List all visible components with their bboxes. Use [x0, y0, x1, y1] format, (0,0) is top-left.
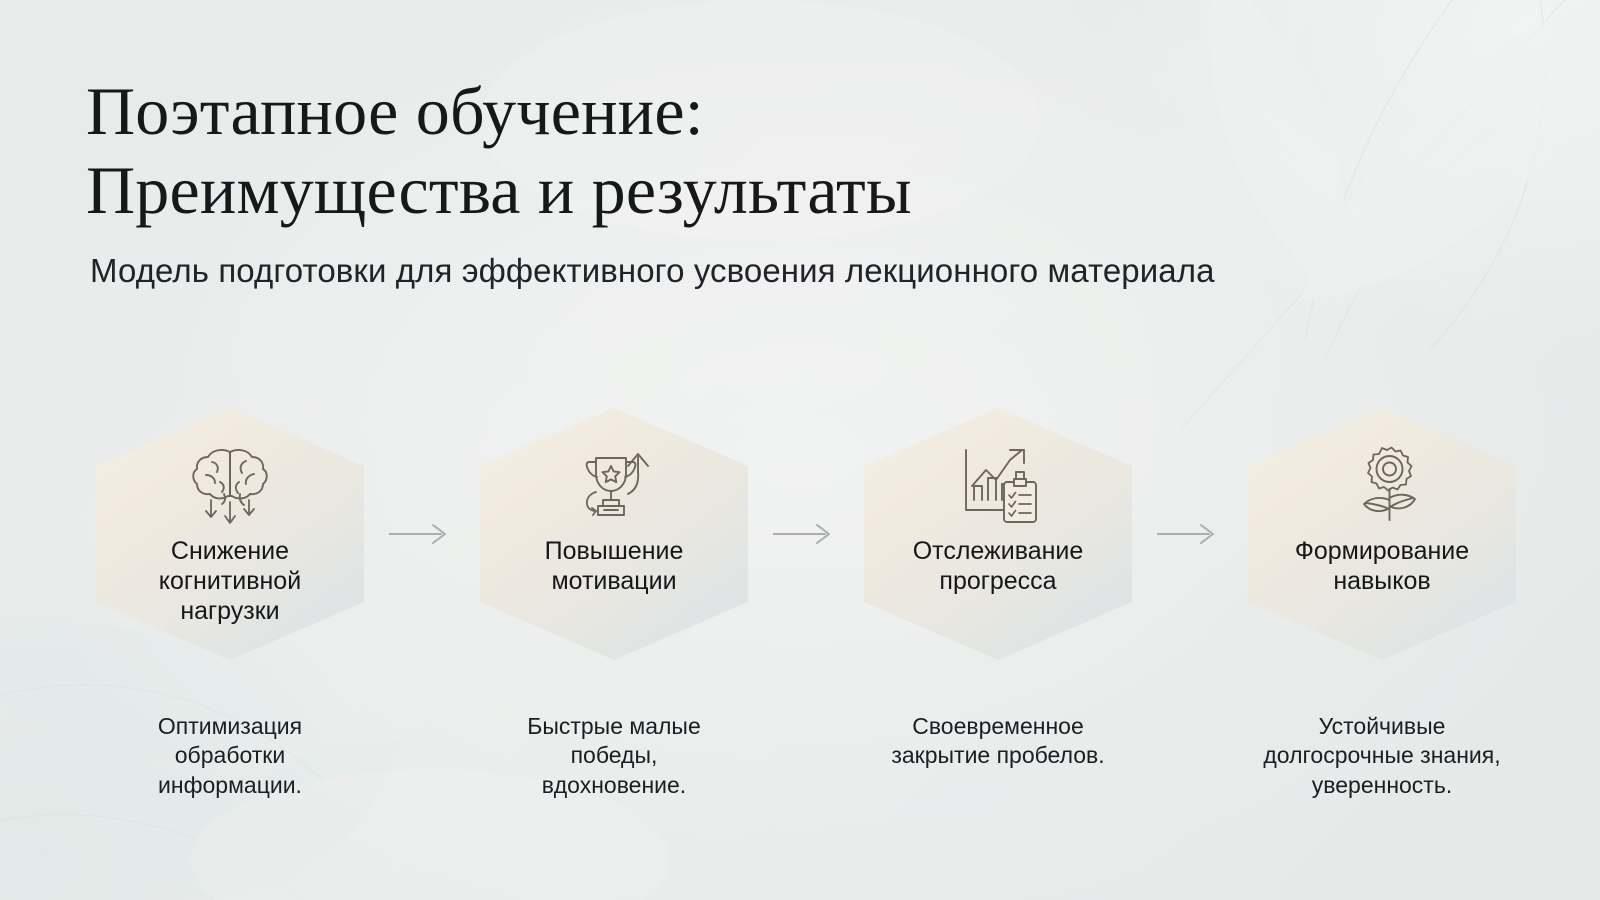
trophy-up-arrow-icon	[568, 442, 660, 528]
step-3[interactable]: Отслеживание прогресса Своевременное зак…	[864, 408, 1132, 771]
step-4-label: Формирование навыков	[1277, 536, 1487, 596]
arrow-right-icon	[1157, 521, 1223, 547]
step-1-caption: Оптимизация обработки информации.	[95, 712, 365, 800]
step-3-hexagon[interactable]: Отслеживание прогресса	[864, 408, 1132, 660]
step-1-label: Снижение когнитивной нагрузки	[125, 536, 335, 626]
step-4-hexagon[interactable]: Формирование навыков	[1248, 408, 1516, 660]
brain-down-arrows-icon	[184, 442, 276, 528]
step-1[interactable]: Снижение когнитивной нагрузки Оптимизаци…	[96, 408, 364, 800]
connector-2	[766, 408, 846, 660]
step-2[interactable]: Повышение мотивации Быстрые малые победы…	[480, 408, 748, 800]
page-subtitle: Модель подготовки для эффективного усвое…	[90, 252, 1506, 290]
step-2-caption: Быстрые малые победы, вдохновение.	[479, 712, 749, 800]
arrow-right-icon	[389, 521, 455, 547]
step-4-caption: Устойчивые долгосрочные знания, уверенно…	[1247, 712, 1517, 800]
connector-1	[382, 408, 462, 660]
chart-clipboard-checklist-icon	[952, 442, 1044, 528]
process-steps: Снижение когнитивной нагрузки Оптимизаци…	[96, 408, 1516, 800]
arrow-right-icon	[773, 521, 839, 547]
header: Поэтапное обучение: Преимущества и резул…	[86, 72, 1506, 290]
gear-flower-growth-icon	[1336, 442, 1428, 528]
step-1-hexagon[interactable]: Снижение когнитивной нагрузки	[96, 408, 364, 660]
step-4[interactable]: Формирование навыков Устойчивые долгосро…	[1248, 408, 1516, 800]
page-title: Поэтапное обучение: Преимущества и резул…	[86, 72, 1506, 230]
step-3-caption: Своевременное закрытие пробелов.	[863, 712, 1133, 771]
connector-3	[1150, 408, 1230, 660]
step-2-label: Повышение мотивации	[509, 536, 719, 596]
step-3-label: Отслеживание прогресса	[893, 536, 1103, 596]
step-2-hexagon[interactable]: Повышение мотивации	[480, 408, 748, 660]
